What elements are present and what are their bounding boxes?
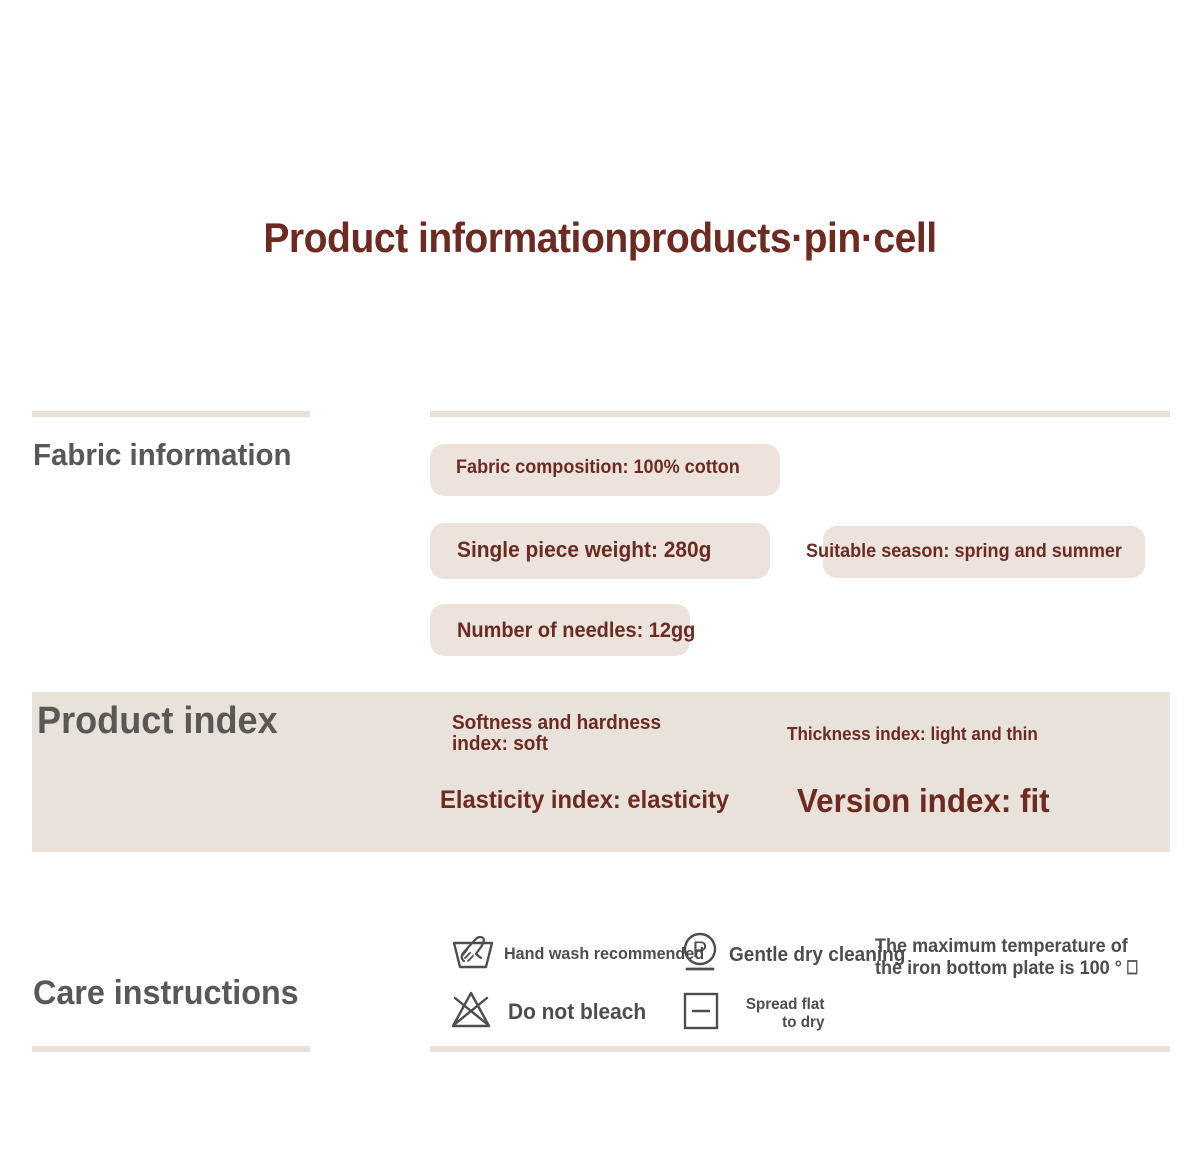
divider-bar-care-left	[32, 1046, 310, 1052]
product-index-softness: Softness and hardness index: soft	[452, 713, 690, 755]
care-item-spread-flat-to-dry: Spread flat to dry	[680, 990, 829, 1037]
section-heading-fabric-information: Fabric information	[33, 437, 292, 473]
section-heading-care-instructions: Care instructions	[33, 974, 299, 1013]
svg-text:P: P	[693, 937, 708, 962]
divider-bar-fabric-right	[430, 411, 1170, 417]
care-item-hand-wash: Hand wash recommended	[450, 932, 715, 977]
care-item-do-not-bleach: Do not bleach	[448, 988, 653, 1035]
gentle-dry-cleaning-icon: P	[678, 930, 722, 981]
divider-bar-fabric-left	[32, 411, 310, 417]
care-label-do-not-bleach: Do not bleach	[508, 1000, 646, 1024]
fabric-tag-season-label: Suitable season: spring and summer	[806, 541, 1122, 563]
care-label-spread-flat-to-dry: Spread flat to dry	[737, 996, 824, 1031]
spread-flat-to-dry-icon	[680, 990, 722, 1037]
care-note-iron-temperature: The maximum temperature of the iron bott…	[875, 936, 1151, 980]
hand-wash-icon	[450, 932, 496, 977]
product-index-thickness: Thickness index: light and thin	[787, 724, 1038, 745]
page-title: Product informationproducts·pin·cell	[42, 214, 1158, 262]
do-not-bleach-icon	[448, 988, 494, 1035]
divider-bar-care-right	[430, 1046, 1170, 1052]
care-label-hand-wash: Hand wash recommended	[504, 945, 704, 963]
product-index-version: Version index: fit	[797, 782, 1050, 820]
fabric-tag-composition-label: Fabric composition: 100% cotton	[456, 457, 740, 479]
product-index-elasticity: Elasticity index: elasticity	[440, 786, 729, 815]
section-heading-product-index: Product index	[37, 700, 278, 743]
fabric-tag-needles-label: Number of needles: 12gg	[457, 619, 695, 643]
fabric-tag-weight-label: Single piece weight: 280g	[457, 537, 711, 563]
